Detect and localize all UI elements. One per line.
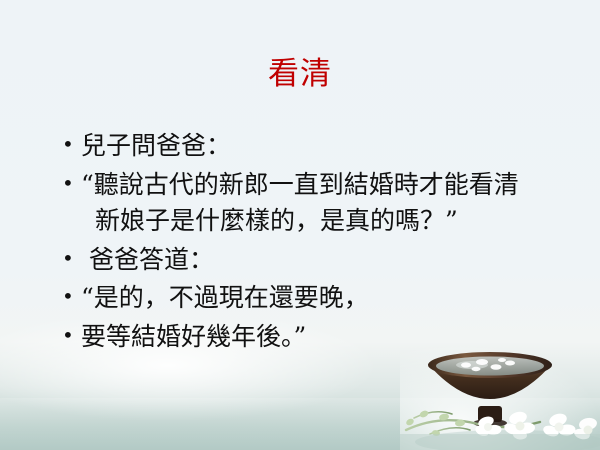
- bullet-icon: •: [62, 319, 81, 351]
- bullet-icon: •: [62, 167, 81, 199]
- list-item-text-line2: 新娘子是什麼樣的，是真的嗎？”: [81, 203, 582, 240]
- list-item: • 兒子問爸爸：: [62, 128, 582, 165]
- bullet-icon: •: [62, 242, 81, 274]
- list-item: • “是的，不過現在還要晚，: [62, 280, 582, 317]
- list-item-text: “聽說古代的新郎一直到結婚時才能看清新娘子是什麼樣的，是真的嗎？”: [81, 167, 582, 240]
- list-item: • “聽說古代的新郎一直到結婚時才能看清新娘子是什麼樣的，是真的嗎？”: [62, 167, 582, 240]
- bullet-icon: •: [62, 280, 81, 312]
- list-item: • 爸爸答道：: [62, 242, 582, 279]
- slide-body-list: • 兒子問爸爸： • “聽說古代的新郎一直到結婚時才能看清新娘子是什麼樣的，是真…: [62, 128, 582, 355]
- list-item-text-line1: “聽說古代的新郎一直到結婚時才能看清: [81, 170, 519, 199]
- bowl-water: [436, 357, 544, 376]
- list-item-text: “是的，不過現在還要晚，: [81, 280, 582, 317]
- slide-title: 看清: [0, 57, 600, 93]
- list-item-text: 兒子問爸爸：: [81, 128, 582, 165]
- bowl-with-white-orchids-photo: [400, 338, 600, 450]
- slide-canvas: 看清 • 兒子問爸爸： • “聽說古代的新郎一直到結婚時才能看清新娘子是什麼樣的…: [0, 0, 600, 450]
- decorative-illustration: [400, 338, 600, 450]
- bullet-icon: •: [62, 128, 81, 160]
- list-item-text: 爸爸答道：: [81, 242, 582, 279]
